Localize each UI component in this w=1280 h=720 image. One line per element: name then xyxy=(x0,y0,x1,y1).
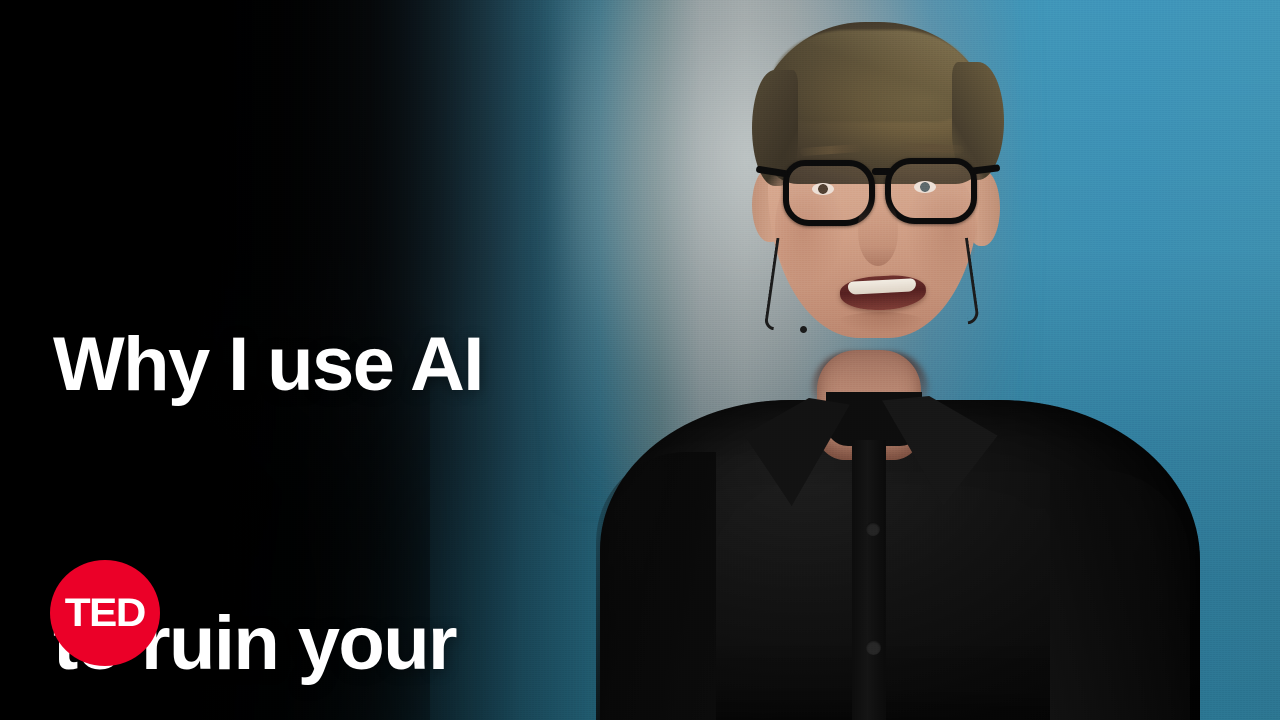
title-line-1: Why I use AI xyxy=(53,318,713,411)
ted-wordmark: TED xyxy=(65,593,145,633)
ted-logo[interactable]: TED xyxy=(50,560,160,666)
ted-talk-thumbnail: Why I use AI to ruin your favorite songs… xyxy=(0,0,1280,720)
